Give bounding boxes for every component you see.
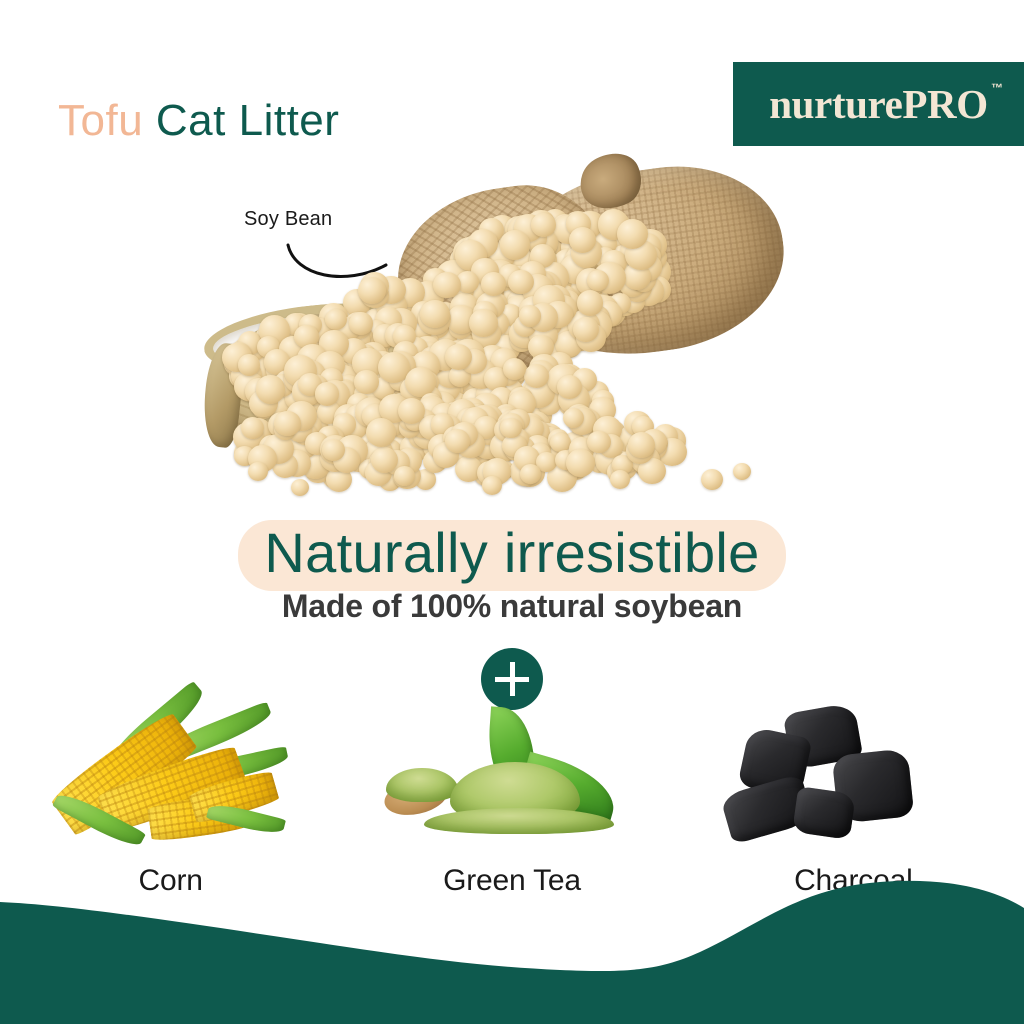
trademark-icon: ™ (991, 82, 1003, 94)
soybean (354, 370, 378, 393)
brand-logo-badge: nurturePRO ™ (733, 62, 1024, 146)
soybean (500, 230, 531, 259)
matcha-powder-icon (362, 706, 662, 856)
brand-logo-text: nurturePRO ™ (769, 84, 987, 125)
soybean (398, 398, 425, 424)
soybean (557, 375, 582, 399)
ingredient-green-tea: Green Tea (362, 706, 662, 898)
soybean (569, 227, 596, 253)
bottom-wave-decoration (0, 874, 1024, 1024)
soybean (274, 411, 301, 437)
headline-text: Naturally irresistible (264, 522, 759, 585)
page-title-highlight: Tofu (58, 96, 143, 145)
headline-highlight-band: Naturally irresistible (238, 520, 785, 591)
page-title: Tofu Cat Litter (58, 96, 339, 146)
soybean (587, 270, 609, 291)
soybean (433, 272, 461, 299)
headline-container: Naturally irresistible (0, 520, 1024, 591)
hero-image (0, 150, 1024, 520)
soybean (577, 290, 604, 316)
plus-icon (481, 648, 543, 710)
brand-name: nurturePRO (769, 81, 987, 127)
soybean (701, 469, 723, 490)
soybean (617, 219, 648, 249)
soybean-pile (0, 150, 1024, 520)
soybean (519, 305, 541, 326)
soybean (503, 358, 526, 380)
soybean (508, 270, 534, 295)
soybean (531, 213, 556, 237)
subheadline-text: Made of 100% natural soybean (0, 588, 1024, 625)
soybean (238, 354, 260, 375)
soybean (322, 439, 345, 461)
product-poster: Tofu Cat Litter nurturePRO ™ Soy Bean Na… (0, 0, 1024, 1024)
soybean (445, 429, 470, 453)
soybean (469, 309, 498, 336)
soybean (587, 431, 610, 453)
plus-bar-vertical (510, 662, 515, 696)
ingredient-corn: Corn (21, 706, 321, 898)
soybean (482, 476, 502, 495)
soybean (349, 312, 372, 334)
soybean (500, 418, 521, 439)
soybean (315, 382, 339, 406)
charcoal-chunks-icon (703, 706, 1003, 856)
soybean (291, 479, 309, 496)
soybean (733, 463, 751, 480)
soybean (248, 462, 268, 481)
soybean (394, 466, 415, 487)
ingredient-charcoal: Charcoal (703, 706, 1003, 898)
corn-cobs-icon (21, 706, 321, 856)
soybean (366, 418, 396, 447)
ingredients-row: Corn Green Tea Charcoal (0, 706, 1024, 898)
soybean (566, 449, 595, 477)
page-title-rest: Cat Litter (156, 96, 340, 145)
soybean (256, 375, 286, 403)
soybean (610, 470, 630, 489)
